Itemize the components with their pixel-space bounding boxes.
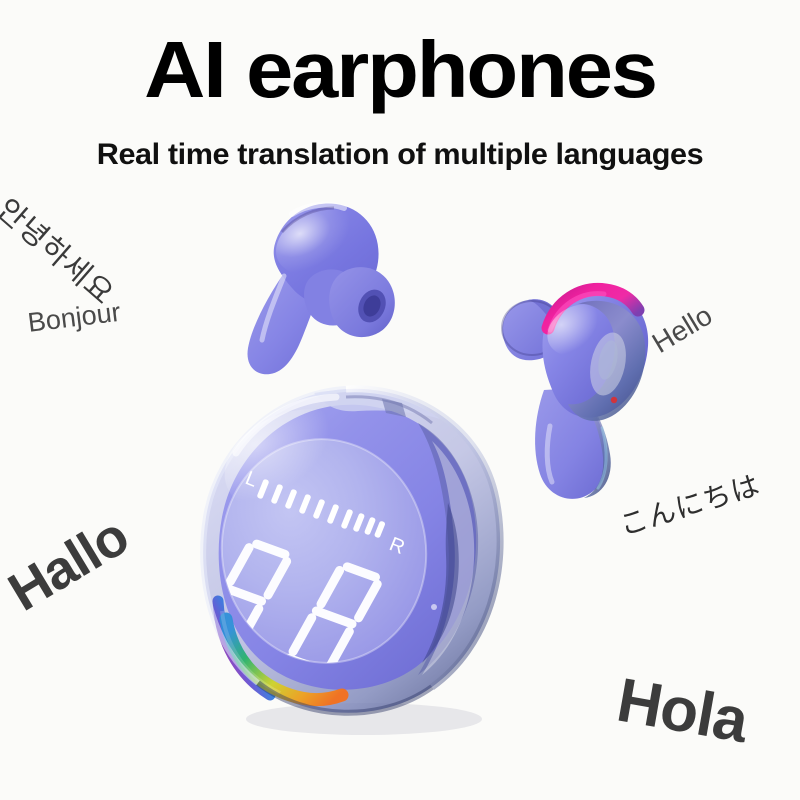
page-title: AI earphones <box>0 30 800 110</box>
case-indicator-dot <box>431 604 437 610</box>
language-word-hallo: Hallo <box>0 505 139 624</box>
earbud-right-status-led <box>611 397 617 403</box>
product-poster: AI earphones Real time translation of mu… <box>0 0 800 800</box>
language-word-korean: 안녕하세요 <box>0 186 126 313</box>
charging-case: L R <box>196 383 526 743</box>
earbud-left <box>222 192 402 382</box>
page-subtitle: Real time translation of multiple langua… <box>0 138 800 172</box>
language-word-bonjour: Bonjour <box>26 297 122 339</box>
language-word-hola: Hola <box>612 665 753 758</box>
